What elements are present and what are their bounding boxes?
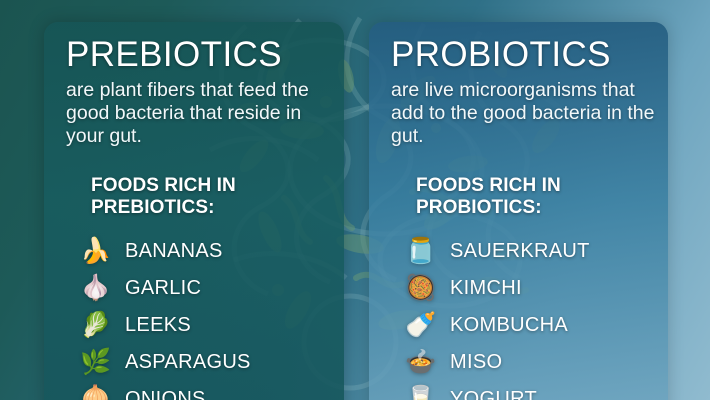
list-item: 🥛 YOGURT — [401, 381, 668, 400]
list-item: 🧅 ONIONS — [76, 381, 344, 400]
food-list-prebiotics: 🍌 BANANAS 🧄 GARLIC 🥬 LEEKS 🌿 ASPARAGUS 🧅… — [76, 233, 344, 400]
jar-icon: 🫙 — [401, 239, 441, 264]
list-item: 🧄 GARLIC — [76, 270, 344, 306]
list-item: 🍲 MISO — [401, 344, 668, 380]
yogurt-icon: 🥛 — [401, 387, 441, 400]
kimchi-bowl-icon: 🥘 — [401, 276, 441, 301]
food-list-probiotics: 🫙 SAUERKRAUT 🥘 KIMCHI 🍼 KOMBUCHA 🍲 MISO … — [401, 233, 668, 400]
panel-probiotics: PROBIOTICS are live microorganisms that … — [369, 22, 668, 400]
subtitle-probiotics: are live microorganisms that add to the … — [391, 79, 659, 147]
list-item: 🥘 KIMCHI — [401, 270, 668, 306]
onion-icon: 🧅 — [76, 387, 116, 400]
section-heading-prebiotics: FOODS RICH IN PREBIOTICS: — [91, 175, 344, 220]
list-item: 🫙 SAUERKRAUT — [401, 233, 668, 269]
list-item: 🍼 KOMBUCHA — [401, 307, 668, 343]
garlic-icon: 🧄 — [76, 276, 116, 301]
page-title-prebiotics: PREBIOTICS — [66, 36, 344, 73]
food-label: MISO — [450, 351, 502, 374]
list-item: 🍌 BANANAS — [76, 233, 344, 269]
panel-prebiotics: PREBIOTICS are plant fibers that feed th… — [44, 22, 344, 400]
banana-icon: 🍌 — [76, 239, 116, 264]
subtitle-prebiotics: are plant fibers that feed the good bact… — [66, 79, 334, 147]
food-label: KOMBUCHA — [450, 314, 568, 337]
page-title-probiotics: PROBIOTICS — [391, 36, 668, 73]
food-label: LEEKS — [125, 314, 191, 337]
food-label: ONIONS — [125, 388, 206, 400]
food-label: GARLIC — [125, 277, 201, 300]
list-item: 🌿 ASPARAGUS — [76, 344, 344, 380]
food-label: SAUERKRAUT — [450, 240, 590, 263]
food-label: BANANAS — [125, 240, 223, 263]
bottle-icon: 🍼 — [401, 313, 441, 338]
food-label: ASPARAGUS — [125, 351, 251, 374]
food-label: YOGURT — [450, 388, 537, 400]
section-heading-probiotics: FOODS RICH IN PROBIOTICS: — [416, 175, 668, 220]
list-item: 🥬 LEEKS — [76, 307, 344, 343]
leek-icon: 🥬 — [76, 313, 116, 338]
asparagus-icon: 🌿 — [76, 350, 116, 375]
food-label: KIMCHI — [450, 277, 522, 300]
miso-soup-icon: 🍲 — [401, 350, 441, 375]
